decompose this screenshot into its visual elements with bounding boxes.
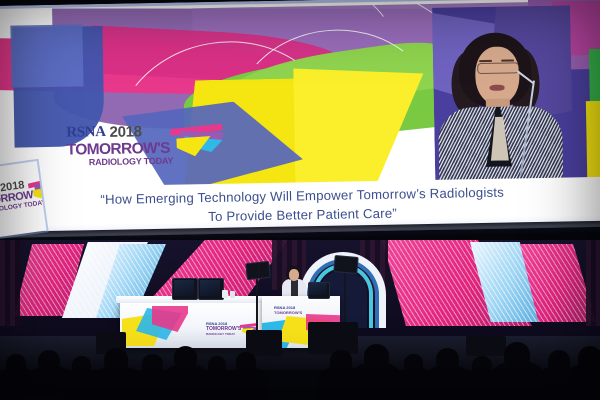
graphic-block-blue-light — [10, 24, 83, 87]
lectern-logo-line-2: TOMORROW'S — [274, 311, 318, 316]
projected-speaker — [433, 31, 576, 190]
desk-monitor-left-screen — [174, 280, 194, 296]
confidence-monitor-right — [333, 255, 358, 274]
monitor-stand — [256, 272, 258, 330]
desk-cup — [230, 291, 235, 298]
desk-cup — [222, 290, 228, 298]
paper-plane-icon — [170, 120, 227, 161]
logo-rsna-text: RSNA — [66, 124, 106, 142]
desk-monitor-right-screen — [200, 280, 220, 296]
stage-curtain-left — [0, 240, 20, 326]
audience — [0, 330, 600, 400]
stage-curtain-far-right — [586, 240, 600, 326]
rsna-logo-side: RSNA 2018 TOMORROW'S RADIOLOGY TODAY — [0, 176, 47, 218]
monitor-stand — [344, 268, 346, 330]
conference-photo: RSNA 2018 TOMORROW'S RADIOLOGY TODAY — [0, 0, 600, 400]
main-projection-screen: RSNA 2018 TOMORROW'S RADIOLOGY TODAY — [0, 0, 600, 198]
logo-year-text: 2018 — [109, 123, 141, 141]
monitor-stand — [258, 266, 260, 276]
lectern-laptop-screen — [309, 283, 327, 295]
lectern-rsna-logo: RSNA 2018 TOMORROW'S — [274, 306, 318, 315]
rsna-logo-main: RSNA 2018 TOMORROW'S RADIOLOGY TODAY — [66, 122, 207, 168]
